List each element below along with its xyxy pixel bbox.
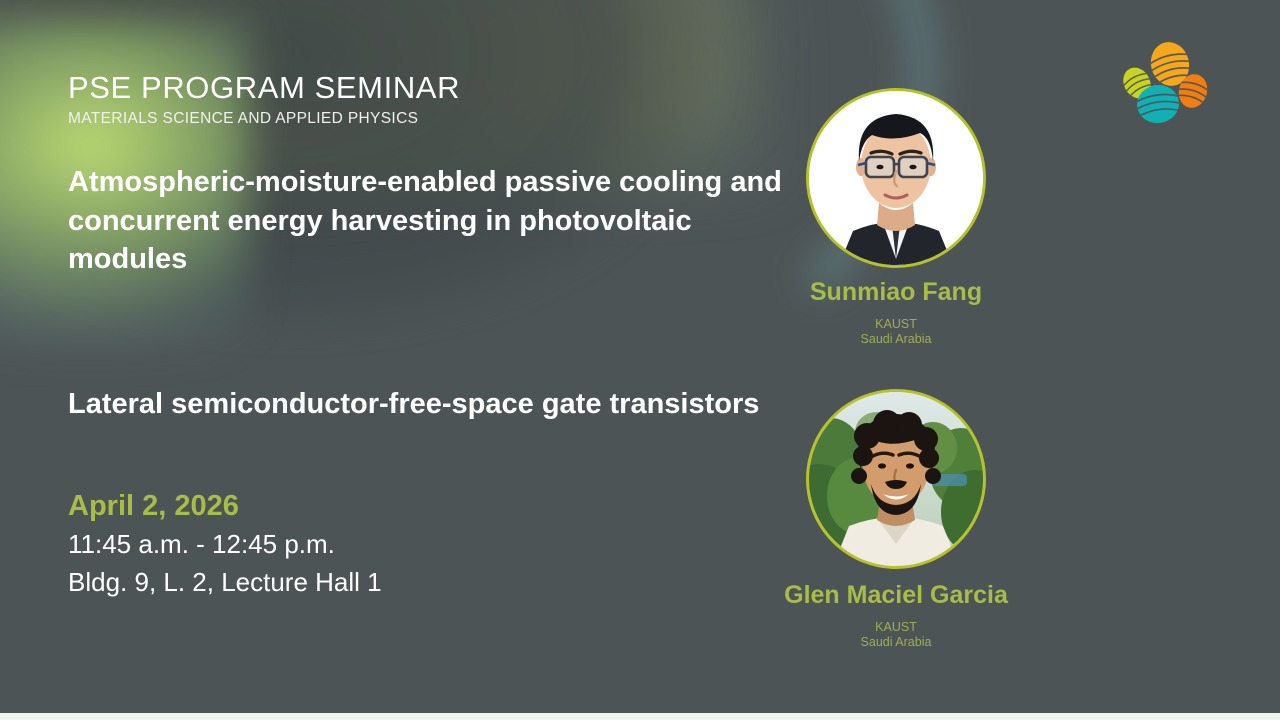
event-date: April 2, 2026 bbox=[68, 487, 382, 525]
program-subtitle: MATERIALS SCIENCE AND APPLIED PHYSICS bbox=[68, 110, 460, 128]
speaker-2: Glen Maciel Garcia KAUST Saudi Arabia bbox=[746, 389, 1046, 651]
speaker-1: Sunmiao Fang KAUST Saudi Arabia bbox=[746, 88, 1046, 348]
speaker-2-country: Saudi Arabia bbox=[746, 635, 1046, 651]
bottom-strip bbox=[0, 713, 1280, 720]
event-location: Bldg. 9, L. 2, Lecture Hall 1 bbox=[68, 563, 382, 601]
speaker-2-name: Glen Maciel Garcia bbox=[746, 582, 1046, 610]
speaker-1-country: Saudi Arabia bbox=[746, 332, 1046, 348]
speaker-2-portrait bbox=[806, 389, 986, 569]
talk-2-title: Lateral semiconductor-free-space gate tr… bbox=[68, 385, 798, 424]
program-title: PSE PROGRAM SEMINAR bbox=[68, 72, 460, 103]
seminar-slide: PSE PROGRAM SEMINAR MATERIALS SCIENCE AN… bbox=[0, 0, 1280, 713]
event-details: April 2, 2026 11:45 a.m. - 12:45 p.m. Bl… bbox=[68, 487, 382, 602]
event-time: 11:45 a.m. - 12:45 p.m. bbox=[68, 525, 382, 563]
speaker-1-name: Sunmiao Fang bbox=[746, 279, 1046, 307]
speaker-2-organization: KAUST bbox=[746, 620, 1046, 636]
speaker-1-organization: KAUST bbox=[746, 317, 1046, 333]
kaust-logo bbox=[1120, 38, 1212, 124]
speaker-1-portrait bbox=[806, 88, 986, 268]
talk-1-title: Atmospheric-moisture-enabled passive coo… bbox=[68, 163, 798, 279]
slide-header: PSE PROGRAM SEMINAR MATERIALS SCIENCE AN… bbox=[68, 72, 460, 128]
